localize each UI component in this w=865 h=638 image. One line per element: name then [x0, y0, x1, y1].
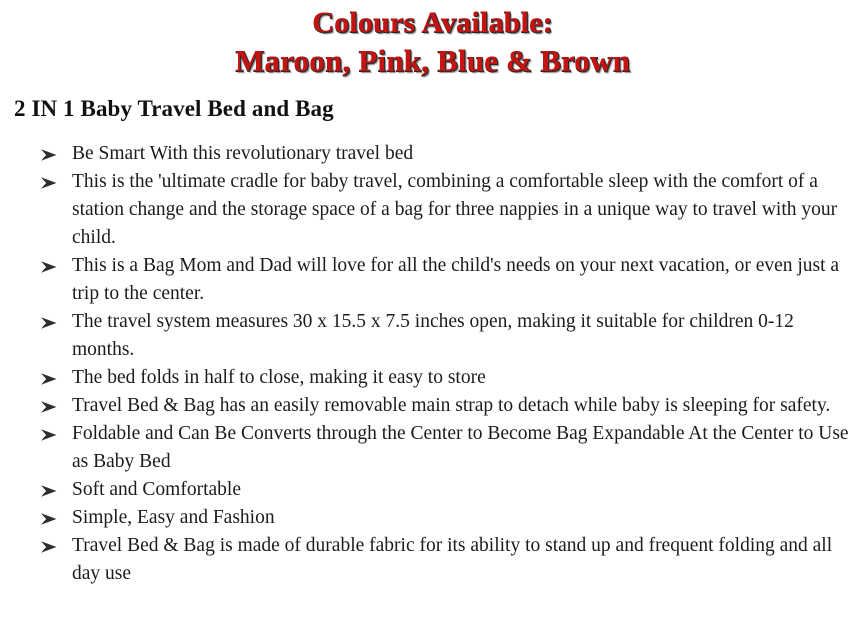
list-item-text: Soft and Comfortable [72, 479, 241, 500]
arrowhead-bullet-icon [40, 308, 62, 336]
list-item-text: The travel system measures 30 x 15.5 x 7… [72, 311, 794, 360]
list-item: Soft and Comfortable [0, 476, 865, 504]
list-item-text: Travel Bed & Bag has an easily removable… [72, 395, 830, 416]
list-item: Foldable and Can Be Converts through the… [0, 420, 865, 476]
list-item: The bed folds in half to close, making i… [0, 364, 865, 392]
list-item: This is the 'ultimate cradle for baby tr… [0, 168, 865, 252]
arrowhead-bullet-icon [40, 476, 62, 504]
title-line-colours-available: Colours Available: [0, 4, 865, 42]
list-item-text: Travel Bed & Bag is made of durable fabr… [72, 535, 832, 584]
list-item: Travel Bed & Bag is made of durable fabr… [0, 532, 865, 588]
list-item: Be Smart With this revolutionary travel … [0, 140, 865, 168]
list-item-text: This is the 'ultimate cradle for baby tr… [72, 171, 837, 248]
list-item-text: Be Smart With this revolutionary travel … [72, 143, 413, 164]
list-item: This is a Bag Mom and Dad will love for … [0, 252, 865, 308]
arrowhead-bullet-icon [40, 532, 62, 560]
arrowhead-bullet-icon [40, 364, 62, 392]
title-block: Colours Available: Maroon, Pink, Blue & … [0, 0, 865, 80]
arrowhead-bullet-icon [40, 504, 62, 532]
arrowhead-bullet-icon [40, 168, 62, 196]
page-title: 2 IN 1 Baby Travel Bed and Bag [14, 94, 865, 124]
product-description-page: Colours Available: Maroon, Pink, Blue & … [0, 0, 865, 638]
list-item: The travel system measures 30 x 15.5 x 7… [0, 308, 865, 364]
arrowhead-bullet-icon [40, 252, 62, 280]
list-item-text: This is a Bag Mom and Dad will love for … [72, 255, 839, 304]
arrowhead-bullet-icon [40, 140, 62, 168]
list-item-text: Foldable and Can Be Converts through the… [72, 423, 849, 472]
title-line-colour-names: Maroon, Pink, Blue & Brown [0, 42, 865, 80]
list-item-text: The bed folds in half to close, making i… [72, 367, 486, 388]
list-item: Travel Bed & Bag has an easily removable… [0, 392, 865, 420]
feature-bullet-list: Be Smart With this revolutionary travel … [0, 140, 865, 588]
list-item: Simple, Easy and Fashion [0, 504, 865, 532]
arrowhead-bullet-icon [40, 420, 62, 448]
arrowhead-bullet-icon [40, 392, 62, 420]
list-item-text: Simple, Easy and Fashion [72, 507, 275, 528]
